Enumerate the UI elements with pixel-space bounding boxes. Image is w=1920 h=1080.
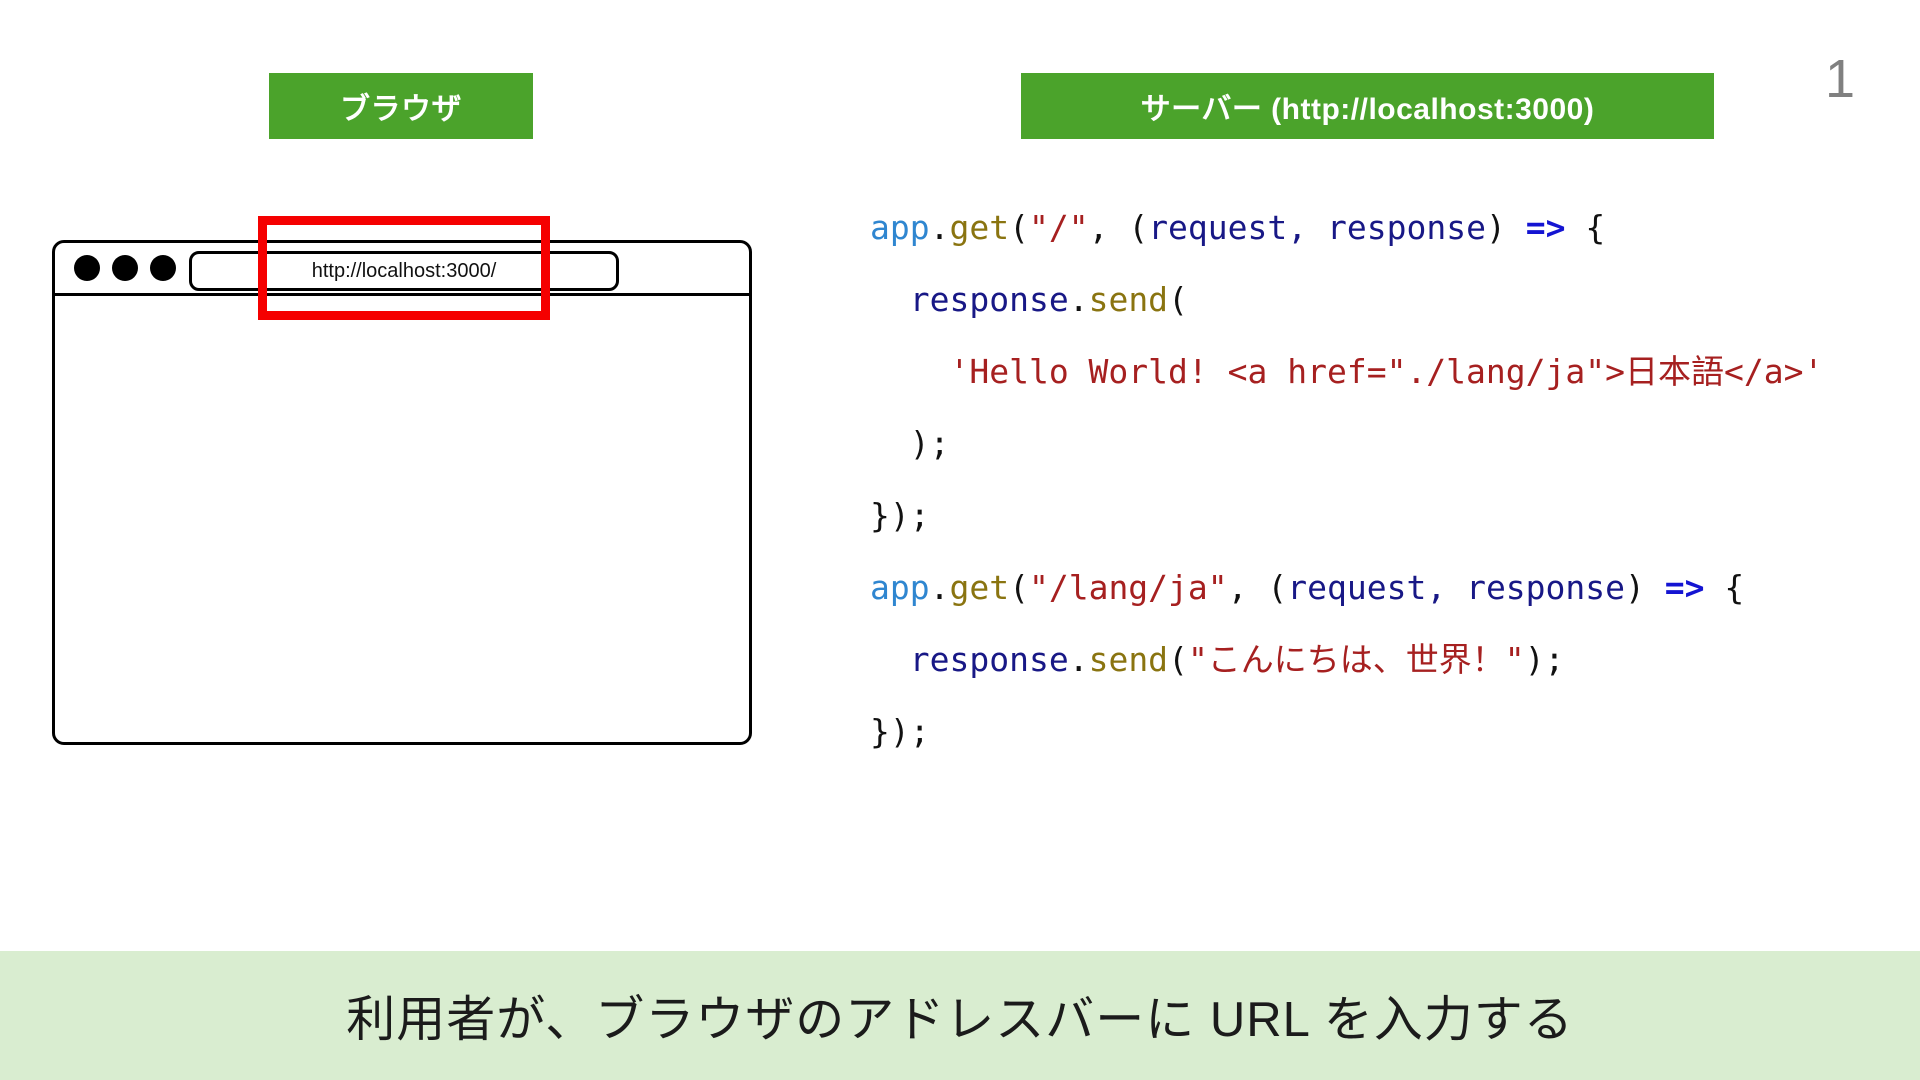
- code-line: });: [870, 696, 1880, 768]
- code-token: .: [1069, 280, 1089, 319]
- code-token: ): [1486, 208, 1526, 247]
- code-token: get: [949, 208, 1009, 247]
- code-token: response: [910, 640, 1069, 679]
- code-token: "/lang/ja": [1029, 568, 1228, 607]
- window-maximize-dot-icon[interactable]: [150, 255, 176, 281]
- code-token: [870, 280, 910, 319]
- code-token: ): [1625, 568, 1665, 607]
- code-token: {: [1565, 208, 1605, 247]
- server-code-block: app.get("/", (request, response) => { re…: [870, 192, 1880, 768]
- banner-server-label: サーバー (http://localhost:3000): [1141, 84, 1595, 128]
- caption-text: 利用者が、ブラウザのアドレスバーに URL を入力する: [346, 980, 1573, 1051]
- code-token: =>: [1526, 208, 1566, 247]
- window-close-dot-icon[interactable]: [74, 255, 100, 281]
- code-token: get: [949, 568, 1009, 607]
- code-token: app: [870, 208, 930, 247]
- caption-bar: 利用者が、ブラウザのアドレスバーに URL を入力する: [0, 951, 1920, 1080]
- banner-browser-label: ブラウザ: [340, 84, 462, 128]
- code-token: );: [1525, 640, 1565, 679]
- code-token: (: [1009, 568, 1029, 607]
- code-line: });: [870, 480, 1880, 552]
- code-token: app: [870, 568, 930, 607]
- browser-viewport: [52, 293, 752, 745]
- code-line: response.send("こんにちは、世界！");: [870, 624, 1880, 696]
- code-token: .: [1069, 640, 1089, 679]
- code-token: (: [1168, 280, 1188, 319]
- code-token: , (: [1228, 568, 1288, 607]
- banner-browser: ブラウザ: [269, 73, 533, 139]
- code-token: (: [1009, 208, 1029, 247]
- code-line: app.get("/", (request, response) => {: [870, 192, 1880, 264]
- code-token: });: [870, 496, 930, 535]
- window-minimize-dot-icon[interactable]: [112, 255, 138, 281]
- slide-number: 1: [1800, 52, 1880, 106]
- banner-server: サーバー (http://localhost:3000): [1021, 73, 1714, 139]
- code-token: {: [1705, 568, 1745, 607]
- code-token: );: [870, 424, 949, 463]
- code-token: "こんにちは、世界！": [1188, 640, 1525, 679]
- code-line: app.get("/lang/ja", (request, response) …: [870, 552, 1880, 624]
- code-token: =>: [1665, 568, 1705, 607]
- address-bar-highlight-box: [258, 216, 550, 320]
- code-token: .: [930, 208, 950, 247]
- code-token: (: [1168, 640, 1188, 679]
- code-token: .: [930, 568, 950, 607]
- code-token: "/": [1029, 208, 1089, 247]
- code-token: , (: [1089, 208, 1149, 247]
- code-token: [870, 352, 949, 391]
- code-line: 'Hello World! <a href="./lang/ja">日本語</a…: [870, 336, 1880, 408]
- code-token: request, response: [1287, 568, 1625, 607]
- code-token: 'Hello World! <a href="./lang/ja">日本語</a…: [949, 352, 1823, 391]
- code-token: response: [910, 280, 1069, 319]
- code-token: send: [1089, 280, 1168, 319]
- code-token: request, response: [1148, 208, 1486, 247]
- code-line: );: [870, 408, 1880, 480]
- code-token: [870, 640, 910, 679]
- code-token: send: [1089, 640, 1168, 679]
- code-line: response.send(: [870, 264, 1880, 336]
- code-token: });: [870, 712, 930, 751]
